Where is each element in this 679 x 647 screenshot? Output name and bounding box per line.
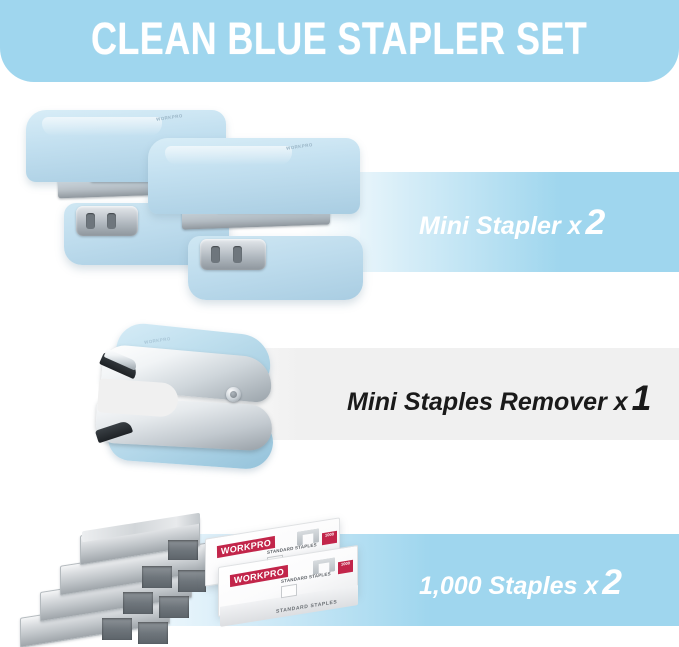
label-remover: Mini Staples Remover x1 [347, 381, 651, 417]
staple-strip-opening [168, 540, 198, 560]
box-spec-chip [281, 584, 297, 599]
staple-strip-opening [138, 622, 168, 644]
staple-strip-opening [142, 566, 172, 588]
label-remover-qty: 1 [632, 378, 651, 418]
remover-pivot-rivet [226, 387, 241, 402]
header-banner: CLEAN BLUE STAPLER SET [0, 0, 679, 82]
product-stapler-2: WORKPRO [138, 136, 368, 316]
label-stapler-name: Mini Stapler x [419, 212, 582, 240]
anvil-slot-right [107, 213, 116, 229]
staple-strip-opening [159, 596, 189, 618]
product-infographic: CLEAN BLUE STAPLER SET Mini Stapler x2 W… [0, 0, 679, 647]
label-remover-name: Mini Staples Remover x [347, 388, 628, 416]
stapler-anvil [76, 206, 138, 236]
product-staple-box-2: WORKPRO STANDARD STAPLES 1000 STANDARD S… [218, 556, 358, 628]
stapler-body [148, 138, 360, 214]
product-staple-strips [20, 518, 210, 643]
label-staples-name: 1,000 Staples x [419, 572, 598, 600]
staple-strip-opening [123, 592, 153, 614]
box-count-badge: 1000 [338, 560, 353, 574]
box-count-badge: 1000 [322, 531, 337, 545]
remover-jaw-gap [97, 378, 179, 417]
staple-strip-opening [102, 618, 132, 640]
staple-strip-opening [178, 570, 206, 592]
label-stapler: Mini Stapler x2 [419, 205, 605, 241]
page-title: CLEAN BLUE STAPLER SET [91, 16, 587, 61]
label-staples: 1,000 Staples x2 [419, 565, 622, 601]
label-stapler-qty: 2 [586, 202, 605, 242]
anvil-slot-left [211, 246, 220, 263]
anvil-slot-left [86, 213, 95, 229]
stapler-anvil [200, 239, 266, 270]
product-staple-remover: WORKPRO [78, 325, 293, 480]
anvil-slot-right [233, 246, 242, 263]
label-staples-qty: 2 [602, 562, 621, 602]
